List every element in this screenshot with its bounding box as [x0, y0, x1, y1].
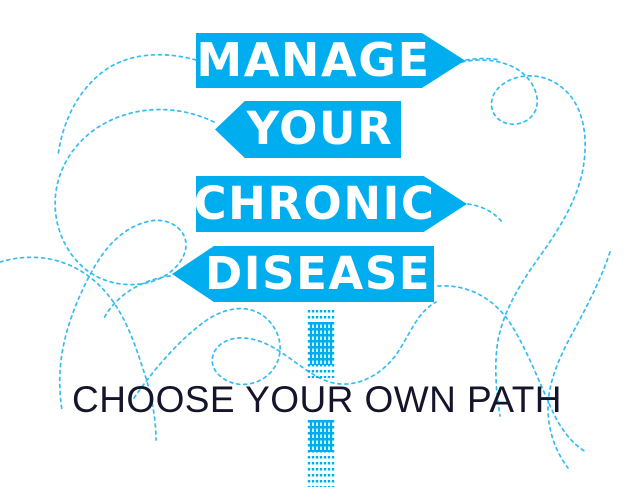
- sign-disease-label: DISEASE: [205, 251, 431, 296]
- sign-disease[interactable]: DISEASE: [172, 246, 434, 302]
- poster-canvas: MANAGE YOUR CHRONIC DISEASE CHOOSE YOUR …: [0, 0, 634, 487]
- sign-manage-label: MANAGE: [196, 37, 430, 83]
- tagline: CHOOSE YOUR OWN PATH: [0, 379, 634, 421]
- sign-chronic-label: CHRONIC: [193, 181, 435, 226]
- sign-your[interactable]: YOUR: [215, 101, 401, 158]
- sign-manage[interactable]: MANAGE: [196, 33, 465, 88]
- sign-your-label: YOUR: [247, 106, 394, 151]
- sign-chronic[interactable]: CHRONIC: [196, 176, 467, 232]
